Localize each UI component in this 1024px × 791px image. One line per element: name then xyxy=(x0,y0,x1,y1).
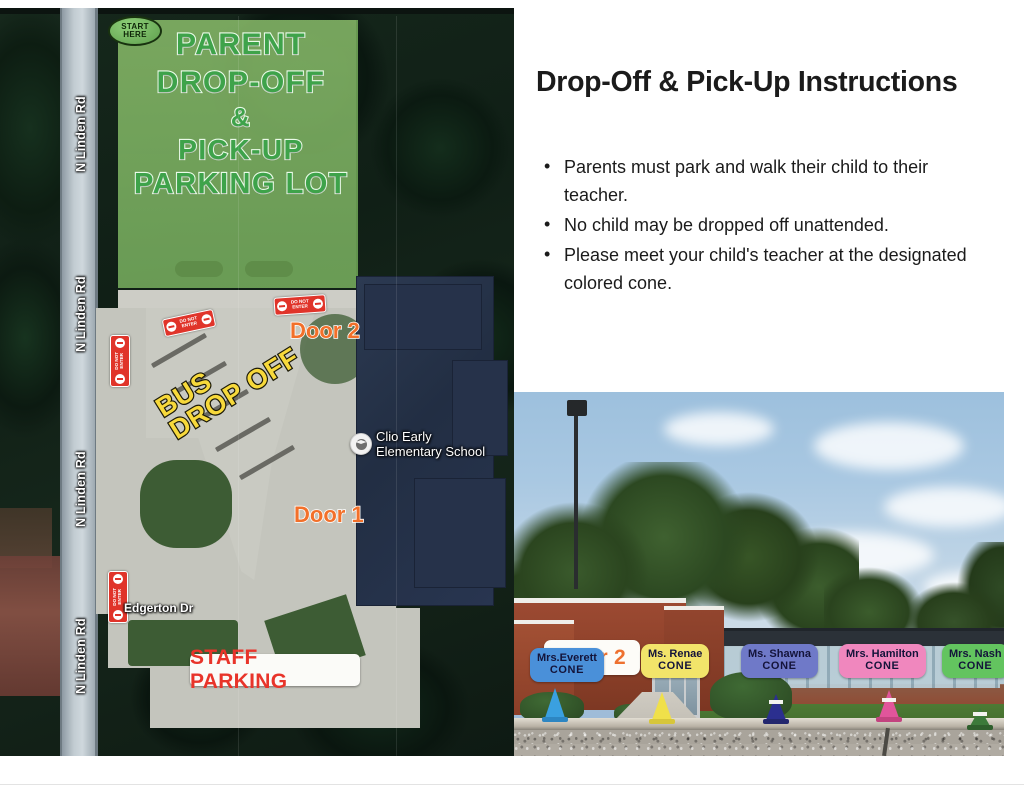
document-page: N Linden Rd N Linden Rd N Linden Rd N Li… xyxy=(0,0,1024,791)
do-not-enter-sign-west: DO NOTENTER xyxy=(110,335,130,387)
road-label-linden-4: N Linden Rd xyxy=(74,618,88,694)
school-building-wing-north xyxy=(364,284,482,350)
school-name-line1: Clio Early xyxy=(376,429,432,444)
road-label-linden-3: N Linden Rd xyxy=(74,451,88,527)
cone-word: CONE xyxy=(762,660,796,672)
list-item: Parents must park and walk their child t… xyxy=(536,153,996,209)
do-not-enter-text: DO NOTENTER xyxy=(113,588,123,606)
lot-label-line3: & xyxy=(118,104,364,130)
no-entry-icon xyxy=(113,574,123,584)
school-entrance-photo: Door 2 Mrs.Everett CONE xyxy=(514,392,1004,756)
lot-label-line5: PARKING LOT xyxy=(118,170,364,199)
cloud xyxy=(664,412,774,446)
cloud xyxy=(884,487,1004,527)
lot-label-line2: DROP-OFF xyxy=(118,68,364,98)
cone-teacher-name: Ms. Shawna xyxy=(748,648,811,660)
cone-teacher-name: Mrs.Everett xyxy=(537,652,597,664)
road-label-linden-2: N Linden Rd xyxy=(74,276,88,352)
lot-island-2 xyxy=(245,261,293,277)
lot-island-1 xyxy=(175,261,223,277)
no-entry-icon xyxy=(115,338,125,348)
cone-label-everett: Mrs.Everett CONE xyxy=(530,648,604,682)
cone-teacher-name: Mrs. Hamilton xyxy=(846,648,919,660)
aerial-map-image: N Linden Rd N Linden Rd N Linden Rd N Li… xyxy=(0,8,514,756)
no-entry-icon xyxy=(313,298,324,309)
light-pole xyxy=(574,414,578,589)
page-bottom-rule xyxy=(0,784,1024,785)
photo-gravel xyxy=(514,744,1004,756)
grass-island-3 xyxy=(140,460,232,548)
list-item: Please meet your child's teacher at the … xyxy=(536,241,996,297)
no-entry-icon xyxy=(115,374,125,384)
parking-lot-label: PARENT DROP-OFF & PICK-UP PARKING LOT xyxy=(118,30,364,199)
no-entry-icon xyxy=(277,301,288,312)
do-not-enter-text: DO NOTENTER xyxy=(115,352,125,370)
do-not-enter-sign-edgerton: DO NOTENTER xyxy=(108,571,128,623)
cone-label-renae: Ms. Renae CONE xyxy=(641,644,709,678)
staff-parking-sign: STAFF PARKING xyxy=(190,654,360,686)
cone-teacher-name: Ms. Renae xyxy=(648,648,702,660)
instructions-list: Parents must park and walk their child t… xyxy=(536,153,996,299)
page-title: Drop-Off & Pick-Up Instructions xyxy=(536,66,1006,99)
do-not-enter-text: DO NOTENTER xyxy=(179,316,198,329)
cone-word: CONE xyxy=(658,660,692,672)
no-entry-icon xyxy=(113,610,123,620)
cone-word: CONE xyxy=(550,664,584,676)
no-entry-icon xyxy=(201,313,213,325)
cone-label-hamilton: Mrs. Hamilton CONE xyxy=(839,644,926,678)
list-item: No child may be dropped off unattended. xyxy=(536,211,996,239)
instructions-panel: Drop-Off & Pick-Up Instructions Parents … xyxy=(514,8,1024,388)
lot-label-line4: PICK-UP xyxy=(118,136,364,164)
cone-word: CONE xyxy=(958,660,992,672)
no-entry-icon xyxy=(165,321,177,333)
cone-label-nash: Mrs. Nash CONE xyxy=(942,644,1004,678)
cone-word: CONE xyxy=(865,660,899,672)
cone-label-shawna: Ms. Shawna CONE xyxy=(741,644,818,678)
map-door-1-label: Door 1 xyxy=(294,502,364,528)
school-name-line2: Elementary School xyxy=(376,444,485,459)
lot-label-line1: PARENT xyxy=(118,30,364,60)
road-label-linden-1: N Linden Rd xyxy=(74,96,88,172)
school-map-pin-icon xyxy=(350,433,372,459)
school-building-wing-south xyxy=(414,478,506,588)
cone-teacher-name: Mrs. Nash xyxy=(949,648,1002,660)
edgerton-dr-label: Edgerton Dr xyxy=(124,601,193,615)
